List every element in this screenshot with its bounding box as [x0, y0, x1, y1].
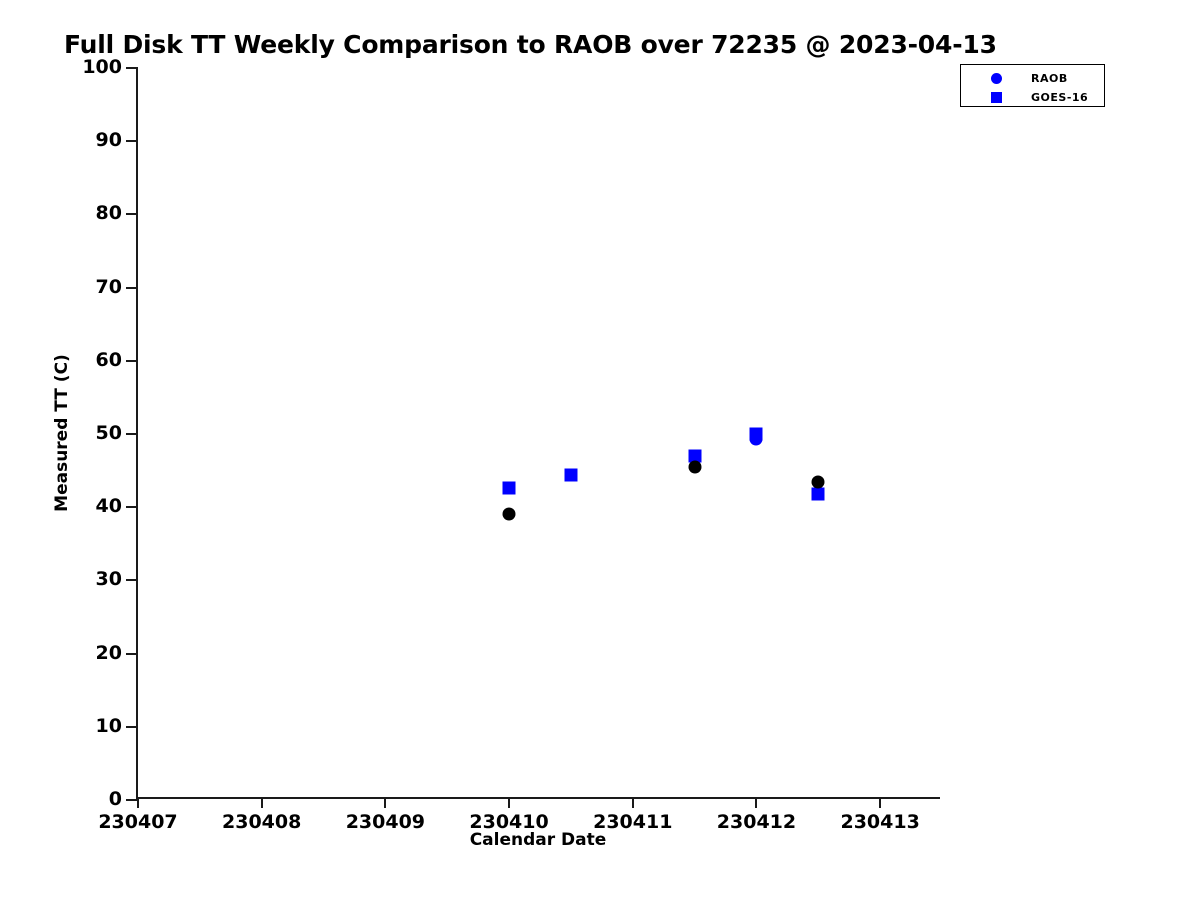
legend-label: RAOB [1031, 72, 1068, 85]
y-axis-tick-mark [126, 579, 138, 581]
x-axis-tick-mark [384, 797, 386, 808]
y-axis-tick-mark [126, 653, 138, 655]
y-axis-tick-label: 60 [96, 349, 122, 371]
y-axis-tick-label: 90 [96, 129, 122, 151]
legend-symbol-wrap [961, 73, 1031, 84]
legend-symbol-wrap [961, 92, 1031, 103]
y-axis-tick-label: 10 [96, 715, 122, 737]
data-point-goes-16 [503, 481, 516, 494]
data-point-raob [503, 507, 516, 520]
data-point-raob [688, 460, 701, 473]
chart-title: Full Disk TT Weekly Comparison to RAOB o… [64, 30, 997, 59]
y-axis-tick-mark [126, 140, 138, 142]
x-axis-tick-mark [879, 797, 881, 808]
data-point-raob [750, 432, 763, 445]
x-axis-tick-mark [137, 797, 139, 808]
y-axis-tick-mark [126, 360, 138, 362]
legend-entry[interactable]: RAOB [961, 68, 1104, 88]
data-point-raob [812, 476, 825, 489]
legend-square-icon [991, 92, 1002, 103]
y-axis-tick-mark [126, 433, 138, 435]
y-axis-tick-mark [126, 213, 138, 215]
y-axis-tick-label: 100 [82, 56, 122, 78]
x-axis-tick-mark [632, 797, 634, 808]
y-axis-tick-label: 50 [96, 422, 122, 444]
y-axis-tick-label: 30 [96, 568, 122, 590]
legend-circle-icon [991, 73, 1002, 84]
x-axis-tick-mark [755, 797, 757, 808]
y-axis-tick-mark [126, 726, 138, 728]
y-axis-tick-label: 80 [96, 202, 122, 224]
y-axis-tick-mark [126, 67, 138, 69]
plot-area: 0102030405060708090100 23040723040823040… [136, 67, 940, 799]
x-axis-title: Calendar Date [136, 830, 940, 850]
y-axis-title: Measured TT (C) [52, 354, 72, 512]
data-markers-layer [138, 67, 940, 797]
scatter-chart: Full Disk TT Weekly Comparison to RAOB o… [0, 0, 1200, 900]
y-axis-tick-label: 70 [96, 276, 122, 298]
y-axis-tick-mark [126, 506, 138, 508]
x-axis-tick-mark [508, 797, 510, 808]
legend-entry[interactable]: GOES-16 [961, 87, 1104, 107]
y-axis-tick-label: 40 [96, 495, 122, 517]
y-axis-tick-label: 20 [96, 642, 122, 664]
y-axis-tick-mark [126, 287, 138, 289]
data-point-raob [564, 469, 577, 482]
legend-label: GOES-16 [1031, 91, 1088, 104]
y-axis-tick-label: 0 [109, 788, 122, 810]
chart-legend: RAOBGOES-16 [960, 64, 1105, 107]
data-point-goes-16 [812, 487, 825, 500]
x-axis-tick-mark [261, 797, 263, 808]
